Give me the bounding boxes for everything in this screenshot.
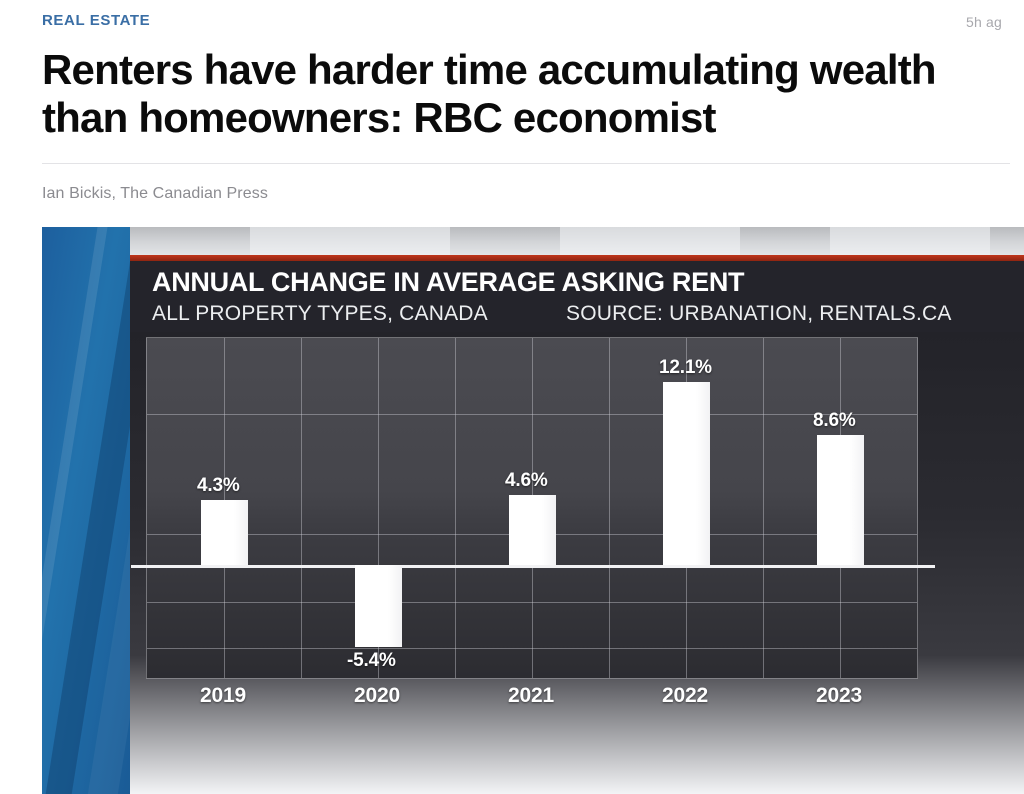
kicker-row: REAL ESTATE 5h ag <box>42 12 1002 34</box>
grid-line-vertical <box>455 338 456 678</box>
band-sheen <box>250 227 450 255</box>
chart-x-axis-labels: 20192020202120222023 <box>146 684 918 718</box>
header-divider <box>42 163 1010 164</box>
chart-source: SOURCE: URBANATION, RENTALS.CA <box>566 300 952 328</box>
grid-line-vertical <box>763 338 764 678</box>
band-sheen <box>560 227 740 255</box>
publish-timestamp: 5h ag <box>966 14 1002 30</box>
chart-title-bar: ANNUAL CHANGE IN AVERAGE ASKING RENT ALL… <box>130 261 1024 332</box>
chart-bar-value-label: -5.4% <box>347 650 396 672</box>
chart-subtitle-row: ALL PROPERTY TYPES, CANADA SOURCE: URBAN… <box>152 300 1024 328</box>
grid-line-horizontal <box>147 602 917 603</box>
chart-bar <box>817 435 864 565</box>
chart-bar-value-label: 4.6% <box>505 470 548 492</box>
byline: Ian Bickis, The Canadian Press <box>42 185 268 203</box>
band-sheen <box>830 227 990 255</box>
chart-plot-region: 4.3%-5.4%4.6%12.1%8.6% 20192020202120222… <box>130 332 1024 794</box>
chart-bar-value-label: 12.1% <box>659 357 712 379</box>
chart-x-tick-label: 2020 <box>354 684 400 708</box>
page-title: Renters have harder time accumulating we… <box>42 46 1017 142</box>
chart-x-tick-label: 2022 <box>662 684 708 708</box>
category-link[interactable]: REAL ESTATE <box>42 12 150 29</box>
chart-x-tick-label: 2023 <box>816 684 862 708</box>
chart-subtitle: ALL PROPERTY TYPES, CANADA <box>152 302 488 325</box>
chart-bar-value-label: 8.6% <box>813 410 856 432</box>
grid-line-horizontal <box>147 648 917 649</box>
chart-plot-area: 4.3%-5.4%4.6%12.1%8.6% <box>146 337 918 679</box>
chart-x-tick-label: 2019 <box>200 684 246 708</box>
top-light-band <box>130 227 1024 255</box>
chart-bar-value-label: 4.3% <box>197 475 240 497</box>
article-page: REAL ESTATE 5h ag Renters have harder ti… <box>0 0 1024 794</box>
chart-x-tick-label: 2021 <box>508 684 554 708</box>
chart-graphic: ANNUAL CHANGE IN AVERAGE ASKING RENT ALL… <box>42 227 1024 794</box>
grid-line-horizontal <box>147 414 917 415</box>
chart-bar <box>509 495 556 565</box>
zero-baseline <box>131 565 935 568</box>
chart-bar <box>355 565 402 647</box>
chart-bar <box>663 382 710 565</box>
chart-title: ANNUAL CHANGE IN AVERAGE ASKING RENT <box>152 265 1024 299</box>
chart-bar <box>201 500 248 565</box>
left-blue-panel <box>42 227 130 794</box>
grid-line-vertical <box>301 338 302 678</box>
grid-line-vertical <box>609 338 610 678</box>
